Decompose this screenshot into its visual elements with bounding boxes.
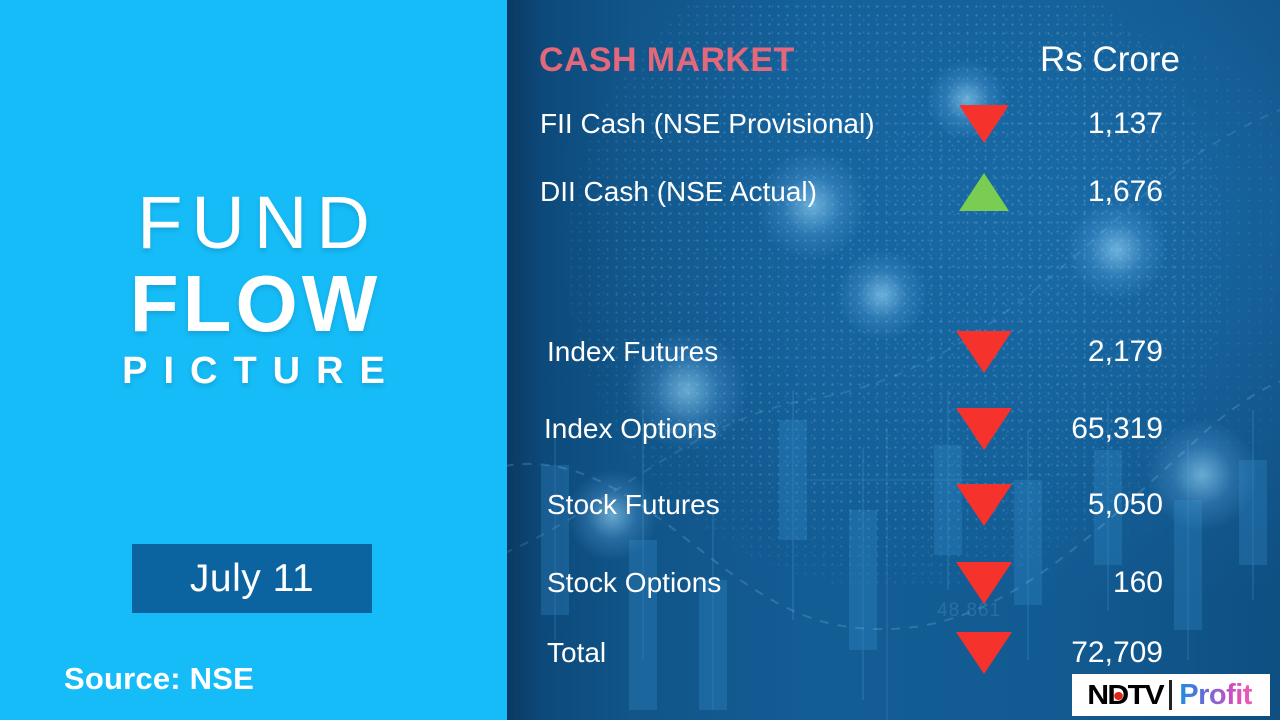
date-badge: July 11 [132,544,372,613]
profit-wordmark: Profit [1179,679,1252,712]
row-value: 65,319 [507,412,1163,446]
left-branding-panel: FUND FLOW PICTURE July 11 Source: NSE [0,0,507,720]
ndtv-wordmark: NDTV [1087,679,1163,711]
table-row: DII Cash (NSE Actual) 1,676 [507,166,1280,218]
table-row: Stock Options 160 [507,557,1280,609]
ndtv-text: NDTV [1087,679,1163,710]
brand-line-fund: FUND [0,183,507,263]
date-badge-label: July 11 [190,557,314,601]
logo-divider [1169,680,1172,710]
brand-title: FUND FLOW PICTURE [0,183,507,397]
table-row: Index Futures 2,179 [507,326,1280,378]
table-unit-label: Rs Crore [507,40,1180,80]
row-value: 1,676 [507,175,1163,209]
row-value: 1,137 [507,107,1163,141]
table-row: Stock Futures 5,050 [507,479,1280,531]
table-row: FII Cash (NSE Provisional) 1,137 [507,98,1280,150]
brand-line-picture: PICTURE [0,345,507,397]
ndtv-red-dot-icon [1114,692,1123,700]
row-value: 160 [507,566,1163,600]
right-data-panel: 54 873 48 861 CASH MARKET Rs Crore FII C… [507,0,1280,720]
ndtv-profit-logo: NDTV Profit [1072,674,1270,716]
source-label: Source: NSE [64,661,254,697]
table-row: Total 72,709 [507,627,1280,679]
fund-flow-picture-graphic: FUND FLOW PICTURE July 11 Source: NSE [0,0,1280,720]
data-table: CASH MARKET Rs Crore FII Cash (NSE Provi… [507,0,1280,720]
row-value: 72,709 [507,636,1163,670]
row-value: 5,050 [507,488,1163,522]
brand-line-flow: FLOW [0,263,507,345]
row-value: 2,179 [507,335,1163,369]
table-row: Index Options 65,319 [507,403,1280,455]
